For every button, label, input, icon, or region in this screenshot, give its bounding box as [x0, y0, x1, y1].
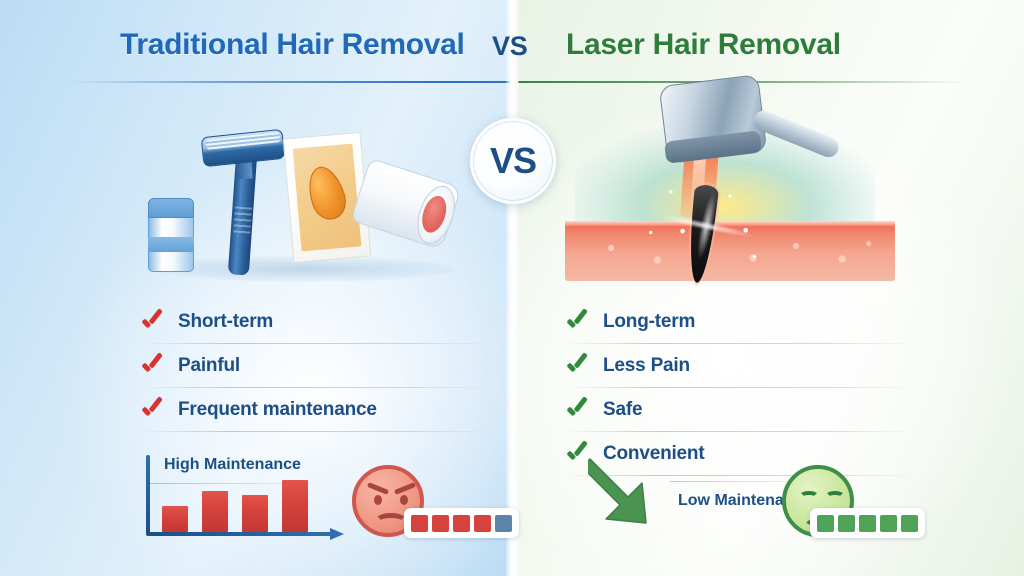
cream-jar-lid	[148, 198, 194, 218]
low-maintenance-meter	[810, 508, 925, 538]
check-icon	[565, 442, 589, 466]
right-feature-list: Long-term Less Pain Safe Convenient	[565, 300, 915, 476]
list-item: Long-term	[565, 300, 915, 344]
list-item: Short-term	[140, 300, 490, 344]
vs-badge-label: VS	[490, 140, 536, 182]
smile-eye-left	[799, 491, 819, 502]
chart-title: High Maintenance	[164, 456, 301, 474]
meter-segment	[859, 515, 876, 532]
chart-bar	[242, 495, 268, 532]
chart-bars	[162, 476, 334, 532]
check-icon	[140, 310, 164, 334]
down-right-arrow-icon	[588, 457, 666, 535]
meter-segment	[453, 515, 470, 532]
chart-x-axis	[146, 532, 332, 536]
vs-badge: VS	[470, 118, 556, 204]
feature-label: Frequent maintenance	[178, 399, 377, 421]
right-panel-title: Laser Hair Removal	[566, 28, 841, 62]
cream-jar-band	[148, 237, 194, 252]
feature-label: Safe	[603, 399, 642, 421]
feature-label: Painful	[178, 355, 240, 377]
high-maintenance-bar-chart: High Maintenance	[146, 455, 366, 540]
check-icon	[565, 398, 589, 422]
meter-segment	[474, 515, 491, 532]
traditional-tools-illustration	[140, 115, 470, 290]
chart-y-axis	[146, 455, 150, 535]
check-icon	[565, 354, 589, 378]
angry-eye-right	[400, 495, 408, 505]
feature-label: Short-term	[178, 311, 273, 333]
header-vs-label: VS	[492, 31, 527, 62]
meter-segment	[838, 515, 855, 532]
list-item: Less Pain	[565, 344, 915, 388]
chart-bar	[282, 480, 308, 532]
header: Traditional Hair Removal VS Laser Hair R…	[0, 0, 1024, 90]
meter-segment	[495, 515, 512, 532]
list-item: Painful	[140, 344, 490, 388]
laser-treatment-illustration	[565, 88, 925, 288]
meter-segment	[880, 515, 897, 532]
list-item: Frequent maintenance	[140, 388, 490, 432]
comparison-infographic: Traditional Hair Removal VS Laser Hair R…	[0, 0, 1024, 576]
angry-brow-left	[367, 482, 389, 495]
meter-segment	[817, 515, 834, 532]
meter-segment	[411, 515, 428, 532]
check-icon	[140, 354, 164, 378]
feature-label: Long-term	[603, 311, 695, 333]
meter-segment	[901, 515, 918, 532]
list-item: Safe	[565, 388, 915, 432]
check-icon	[565, 310, 589, 334]
razor-grip	[233, 206, 252, 237]
check-icon	[140, 398, 164, 422]
chart-bar	[202, 491, 228, 532]
meter-segment	[432, 515, 449, 532]
angry-mouth	[374, 513, 408, 531]
cream-jar-icon	[148, 198, 194, 272]
feature-label: Less Pain	[603, 355, 690, 377]
smile-eye-right	[825, 491, 845, 502]
high-maintenance-meter	[404, 508, 519, 538]
left-feature-list: Short-term Painful Frequent maintenance	[140, 300, 490, 432]
left-panel-title: Traditional Hair Removal	[120, 28, 465, 62]
angry-eye-left	[374, 495, 382, 505]
angry-brow-right	[394, 482, 416, 495]
chart-bar	[162, 506, 188, 532]
